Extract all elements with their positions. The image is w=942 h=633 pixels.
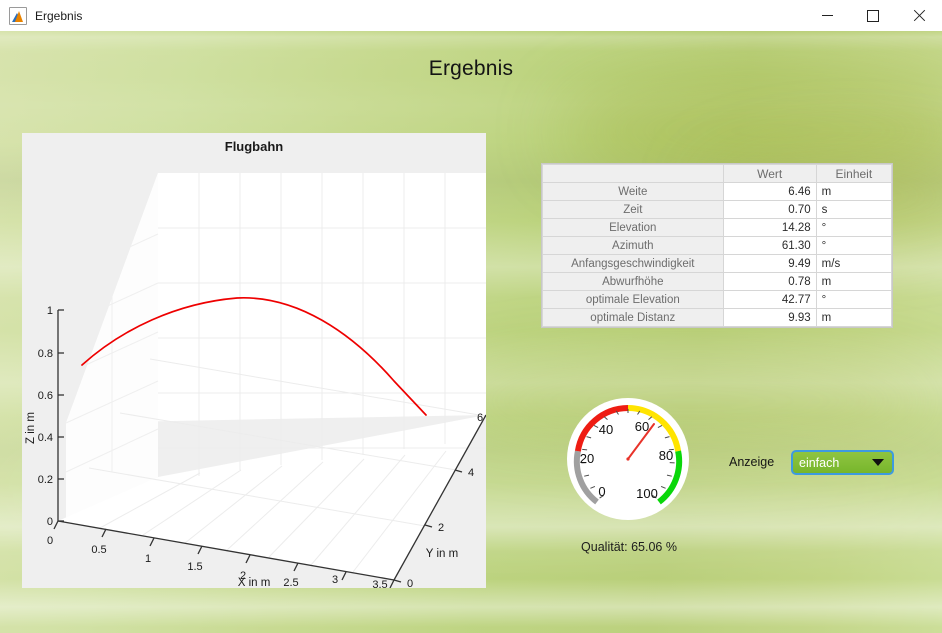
row-value: 9.49 — [723, 255, 816, 273]
row-label: Weite — [543, 183, 724, 201]
display-mode-dropdown[interactable]: einfach — [791, 450, 894, 475]
results-table: Wert Einheit Weite 6.46 m Zeit 0.70 s El… — [542, 164, 892, 327]
y-tick-3: 6 — [477, 412, 483, 424]
maximize-icon — [867, 10, 879, 22]
row-label: optimale Distanz — [543, 309, 724, 327]
row-label: Anfangsgeschwindigkeit — [543, 255, 724, 273]
table-header-row: Wert Einheit — [543, 165, 892, 183]
y-tick-2: 4 — [468, 467, 474, 479]
close-icon — [913, 10, 925, 22]
row-unit: m — [816, 309, 891, 327]
z-tick-1: 0.2 — [38, 474, 53, 486]
table-row: Azimuth 61.30 ° — [543, 237, 892, 255]
x-tick-2: 1 — [145, 553, 151, 565]
row-unit: ° — [816, 291, 891, 309]
row-unit: s — [816, 201, 891, 219]
minimize-button[interactable] — [804, 0, 850, 31]
row-unit: m/s — [816, 255, 891, 273]
row-value: 6.46 — [723, 183, 816, 201]
row-label: Elevation — [543, 219, 724, 237]
y-tick-0: 0 — [407, 578, 413, 588]
minimize-icon — [822, 15, 833, 16]
gauge-tick-100: 100 — [636, 486, 658, 501]
row-label: Abwurfhöhe — [543, 273, 724, 291]
row-label: Zeit — [543, 201, 724, 219]
gauge-tick-80: 80 — [659, 448, 673, 463]
table-header-wert: Wert — [723, 165, 816, 183]
gauge-tick-0: 0 — [598, 484, 605, 499]
z-axis-label: Z in m — [25, 412, 37, 444]
trajectory-plot-panel: Flugbahn — [22, 133, 486, 588]
row-unit: ° — [816, 237, 891, 255]
maximize-button[interactable] — [850, 0, 896, 31]
display-mode-value: einfach — [799, 456, 872, 470]
z-tick-4: 0.8 — [38, 348, 53, 360]
x-tick-1: 0.5 — [91, 544, 106, 556]
table-header-einheit: Einheit — [816, 165, 891, 183]
y-axis-label: Y in m — [426, 548, 458, 560]
quality-gauge: 0 20 40 60 80 100 — [565, 396, 691, 522]
z-tick-2: 0.4 — [38, 432, 53, 444]
row-label: Azimuth — [543, 237, 724, 255]
gauge-svg: 0 20 40 60 80 100 — [565, 396, 691, 522]
table-header-empty — [543, 165, 724, 183]
x-tick-0: 0 — [47, 535, 53, 547]
table-row: Weite 6.46 m — [543, 183, 892, 201]
chevron-down-icon — [872, 459, 884, 466]
z-tick-5: 1 — [47, 305, 53, 317]
title-bar: Ergebnis — [0, 0, 942, 32]
row-label: optimale Elevation — [543, 291, 724, 309]
x-tick-7: 3.5 — [372, 579, 387, 588]
gauge-hub — [626, 457, 629, 460]
row-unit: ° — [816, 219, 891, 237]
row-value: 42.77 — [723, 291, 816, 309]
trajectory-plot-svg: 0 0.2 0.4 0.6 0.8 1 Z in m — [22, 133, 486, 588]
table-row: Zeit 0.70 s — [543, 201, 892, 219]
gauge-tick-20: 20 — [580, 451, 594, 466]
row-value: 0.70 — [723, 201, 816, 219]
table-row: Abwurfhöhe 0.78 m — [543, 273, 892, 291]
table-row: Elevation 14.28 ° — [543, 219, 892, 237]
table-row: optimale Distanz 9.93 m — [543, 309, 892, 327]
row-unit: m — [816, 273, 891, 291]
app-background: Ergebnis Flugbahn — [0, 31, 942, 633]
x-tick-6: 3 — [332, 574, 338, 586]
close-button[interactable] — [896, 0, 942, 31]
table-row: optimale Elevation 42.77 ° — [543, 291, 892, 309]
app-window: Ergebnis Ergebnis Flugbahn — [0, 0, 942, 633]
row-value: 0.78 — [723, 273, 816, 291]
x-axis-label: X in m — [238, 577, 271, 588]
x-tick-5: 2.5 — [283, 577, 298, 588]
z-tick-0: 0 — [47, 516, 53, 528]
display-mode-label: Anzeige — [729, 455, 774, 469]
z-tick-3: 0.6 — [38, 390, 53, 402]
x-tick-3: 1.5 — [187, 561, 202, 573]
row-value: 9.93 — [723, 309, 816, 327]
gauge-tick-40: 40 — [599, 422, 613, 437]
y-tick-1: 2 — [438, 522, 444, 534]
matlab-icon — [9, 7, 27, 25]
row-value: 14.28 — [723, 219, 816, 237]
page-title: Ergebnis — [0, 57, 942, 81]
row-unit: m — [816, 183, 891, 201]
window-controls — [804, 0, 942, 31]
row-value: 61.30 — [723, 237, 816, 255]
quality-label: Qualität: 65.06 % — [521, 540, 737, 554]
table-row: Anfangsgeschwindigkeit 9.49 m/s — [543, 255, 892, 273]
window-title: Ergebnis — [35, 9, 82, 23]
